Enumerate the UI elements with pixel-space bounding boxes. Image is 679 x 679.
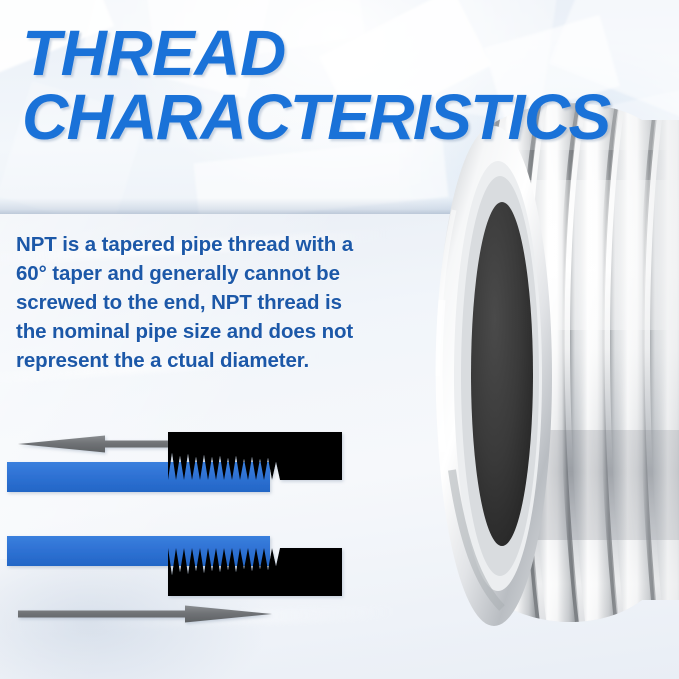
pipe-end-face xyxy=(436,126,552,626)
title-line-1: THREAD xyxy=(22,24,679,84)
page-title: THREAD CHARACTERISTICS xyxy=(22,24,679,147)
pipe-bore xyxy=(471,202,533,546)
thread-characteristics-infographic: THREAD CHARACTERISTICS NPT is a tapered … xyxy=(0,0,679,679)
npt-thread-engagement-diagram xyxy=(0,414,360,654)
title-line-2: CHARACTERISTICS xyxy=(22,88,679,148)
arrow-right-icon xyxy=(18,606,272,623)
description-text: NPT is a tapered pipe thread with a 60° … xyxy=(16,230,371,376)
thread-bar-bottom xyxy=(7,536,342,596)
